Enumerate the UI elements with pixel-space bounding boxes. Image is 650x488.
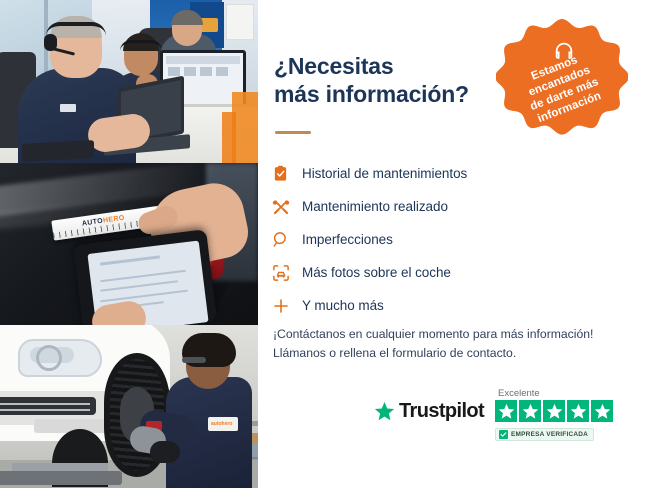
- mechanic-glove-right: [150, 441, 180, 463]
- grille-slat-2: [0, 409, 90, 411]
- page-title-line-1: ¿Necesitas: [274, 52, 504, 80]
- list-item-label: Historial de mantenimientos: [302, 166, 467, 181]
- plus-icon: [272, 297, 302, 315]
- list-item-label: Y mucho más: [302, 298, 384, 313]
- main-agent-headset-band: [46, 22, 106, 36]
- rating-star: [495, 400, 517, 422]
- monitor-thumb-3: [200, 67, 212, 76]
- car-grille: [0, 397, 96, 415]
- contact-paragraph: ¡Contáctanos en cualquier momento para m…: [273, 325, 633, 364]
- mechanic-safety-glasses: [182, 357, 206, 363]
- desk-tablet: [22, 140, 94, 162]
- contact-line-2: Llámanos o rellena el formulario de cont…: [273, 344, 633, 363]
- monitor-thumb-2: [184, 67, 196, 76]
- list-item-label: Más fotos sobre el coche: [302, 265, 451, 280]
- rating-star: [543, 400, 565, 422]
- mechanic-logo-badge: autohero: [208, 417, 238, 431]
- list-item-label: Imperfecciones: [302, 232, 393, 247]
- rating-star: [519, 400, 541, 422]
- list-item: Imperfecciones: [272, 223, 602, 256]
- car-scan-frame-icon: [272, 264, 302, 282]
- page-title: ¿Necesitas más información?: [274, 52, 504, 108]
- car-lift-platform: [0, 471, 122, 485]
- promo-card: AUTOHERO: [0, 0, 650, 488]
- monitor-thumb-4: [216, 67, 228, 76]
- clipboard-check-icon: [272, 165, 302, 182]
- verified-company-label: EMPRESA VERIFICADA: [511, 431, 588, 438]
- monitor-thumb-1: [168, 67, 180, 76]
- verified-company-badge: EMPRESA VERIFICADA: [495, 428, 594, 441]
- trustpilot-brand-label: Trustpilot: [399, 400, 484, 423]
- list-item: Y mucho más: [272, 289, 602, 322]
- content-panel: ¿Necesitas más información? Estamos enca…: [258, 0, 650, 488]
- mechanic-wheel-photo: autohero: [0, 325, 258, 488]
- trustpilot-star-icon: [374, 401, 395, 422]
- monitor-screen-toolbar: [166, 56, 240, 64]
- title-underline: [275, 131, 311, 134]
- orange-partition-2: [222, 112, 236, 163]
- grille-slat-1: [0, 403, 90, 405]
- second-agent-headset: [120, 40, 162, 51]
- car-inspection-ruler-photo: AUTOHERO: [0, 163, 258, 325]
- check-badge-icon: [499, 430, 508, 439]
- trustpilot-widget[interactable]: Trustpilot Excelente EMPRESA VERIFICADA: [374, 392, 650, 448]
- rating-star: [591, 400, 613, 422]
- trustpilot-rating-label: Excelente: [498, 388, 540, 399]
- call-center-agents-photo: [0, 0, 258, 163]
- feature-list: Historial de mantenimientos Mantenimient…: [272, 157, 602, 322]
- rating-star: [567, 400, 589, 422]
- contact-line-1: ¡Contáctanos en cualquier momento para m…: [273, 325, 633, 344]
- mechanic-badge-text: autohero: [211, 421, 232, 427]
- headlight-ring: [36, 345, 62, 371]
- page-title-line-2: más información?: [274, 80, 504, 108]
- magnifier-icon: [272, 231, 302, 249]
- tools-wrench-screwdriver-icon: [272, 198, 302, 216]
- wall-paper-sheet: [226, 4, 254, 40]
- list-item: Más fotos sobre el coche: [272, 256, 602, 289]
- list-item: Historial de mantenimientos: [272, 157, 602, 190]
- trustpilot-star-rating: [495, 400, 613, 422]
- promo-starburst-badge: Estamos encantados de darte más informac…: [496, 16, 628, 148]
- photo-column: AUTOHERO: [0, 0, 258, 488]
- trustpilot-logo[interactable]: Trustpilot: [374, 400, 484, 423]
- list-item: Mantenimiento realizado: [272, 190, 602, 223]
- main-agent-name-badge: [60, 104, 76, 112]
- list-item-label: Mantenimiento realizado: [302, 199, 448, 214]
